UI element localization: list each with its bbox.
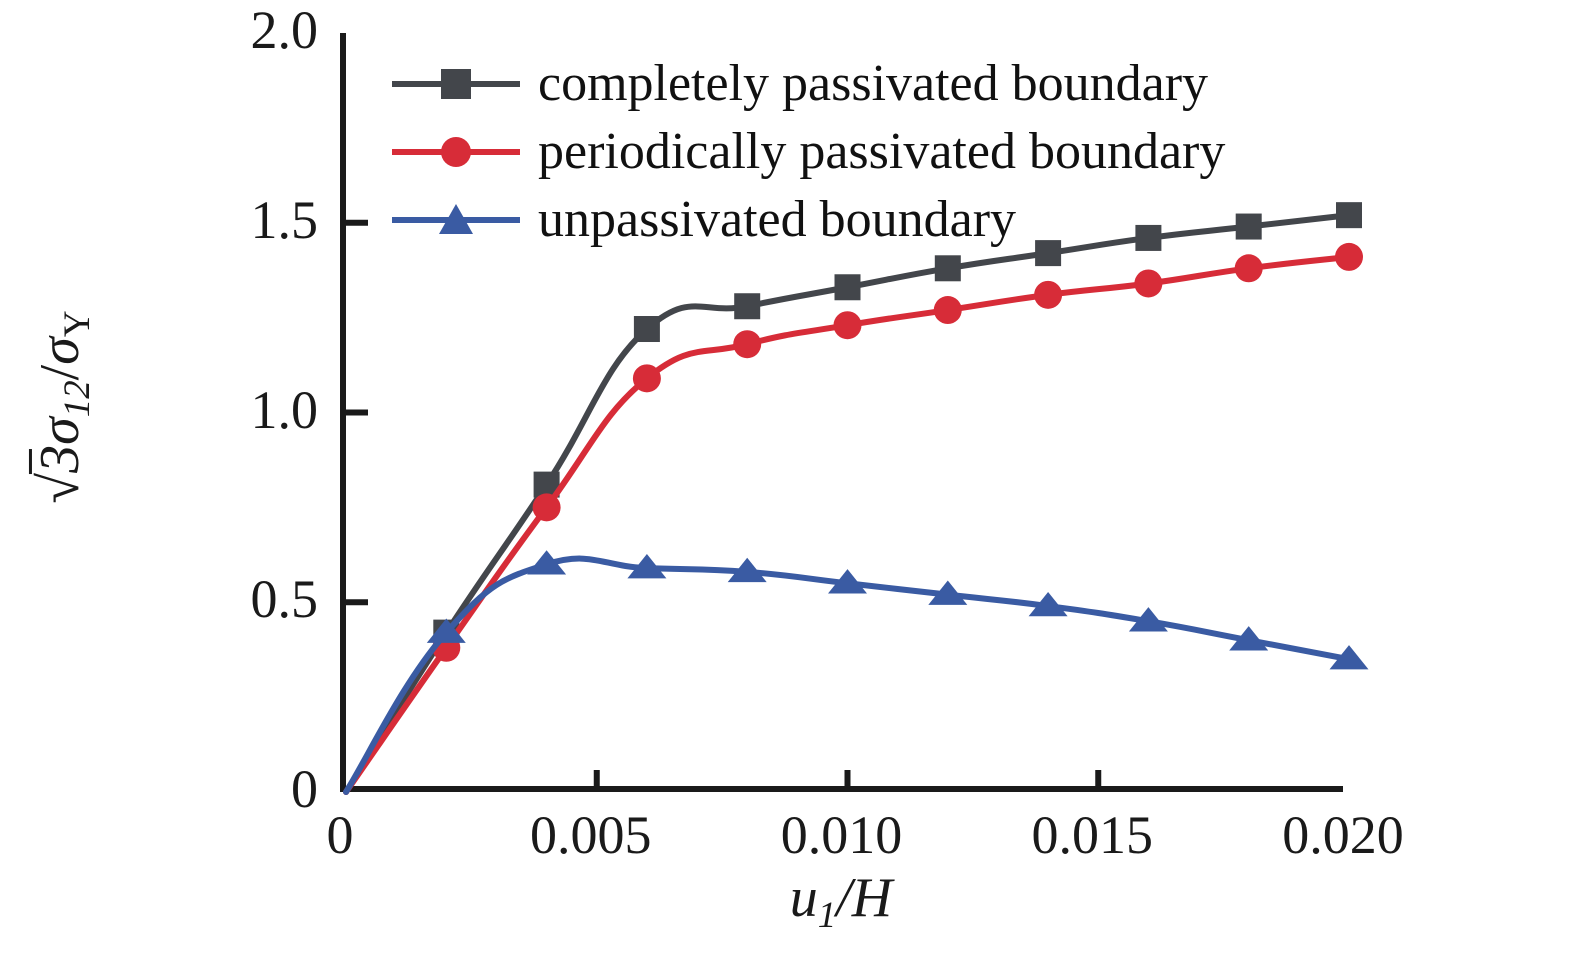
sigma-subscript-y: Y — [56, 310, 97, 337]
legend-key-circle-icon — [392, 129, 520, 175]
chart-figure: 00.51.01.52.0 00.0050.0100.0150.020 √3σ1… — [0, 0, 1575, 974]
data-point-marker — [1235, 254, 1263, 282]
sigma-glyph: σ — [29, 417, 91, 445]
data-series-layer — [346, 202, 1369, 792]
data-point-marker — [733, 330, 761, 358]
legend-item-3[interactable]: unpassivated boundary — [392, 186, 1252, 254]
legend-item-2[interactable]: periodically passivated boundary — [392, 118, 1252, 186]
series-1 — [346, 202, 1362, 792]
legend-marker-circle-icon — [441, 137, 471, 167]
legend-marker-triangle-icon — [439, 204, 473, 234]
x-tick-label: 0.005 — [530, 808, 652, 862]
series-3 — [346, 550, 1369, 792]
u-glyph: u — [790, 867, 818, 929]
y-tick-label: 2.0 — [0, 3, 318, 57]
data-point-marker — [634, 316, 660, 342]
data-point-marker — [1034, 281, 1062, 309]
data-point-marker — [533, 493, 561, 521]
data-point-marker — [1134, 269, 1162, 297]
chart-legend: completely passivated boundaryperiodical… — [392, 50, 1252, 254]
data-point-marker — [934, 296, 962, 324]
u-subscript-1: 1 — [818, 894, 836, 935]
y-tick-label: 0 — [0, 762, 318, 816]
radicand-three: 3 — [29, 445, 91, 473]
x-tick-label: 0.010 — [781, 808, 903, 862]
sqrt-radical: √3 — [28, 445, 92, 504]
radical-overbar — [29, 449, 32, 475]
x-tick-label: 0 — [327, 808, 354, 862]
y-axis-title: √3σ12/σY — [28, 197, 98, 617]
legend-marker-square-icon — [441, 69, 471, 99]
legend-label: unpassivated boundary — [520, 194, 1016, 246]
sigma-y-glyph: σ — [29, 337, 91, 365]
legend-label: periodically passivated boundary — [520, 126, 1225, 178]
data-point-marker — [734, 293, 760, 319]
legend-key-triangle-icon — [392, 197, 520, 243]
divide-slash: / — [29, 365, 91, 381]
legend-label: completely passivated boundary — [520, 58, 1208, 110]
data-point-marker — [835, 274, 861, 300]
series-2 — [346, 243, 1363, 792]
data-point-marker — [935, 255, 961, 281]
series-line — [346, 559, 1349, 792]
data-point-marker — [1336, 202, 1362, 228]
x-axis-title: u1/H — [790, 866, 892, 936]
legend-key-square-icon — [392, 61, 520, 107]
radical-glyph: √ — [29, 473, 91, 504]
data-point-marker — [633, 364, 661, 392]
series-line — [346, 215, 1349, 792]
data-point-marker — [834, 311, 862, 339]
data-point-marker — [1335, 243, 1363, 271]
x-tick-label: 0.015 — [1032, 808, 1154, 862]
legend-item-1[interactable]: completely passivated boundary — [392, 50, 1252, 118]
slash-h-glyph: /H — [836, 867, 892, 929]
sigma-subscript-12: 12 — [56, 380, 97, 417]
x-tick-label: 0.020 — [1282, 808, 1404, 862]
